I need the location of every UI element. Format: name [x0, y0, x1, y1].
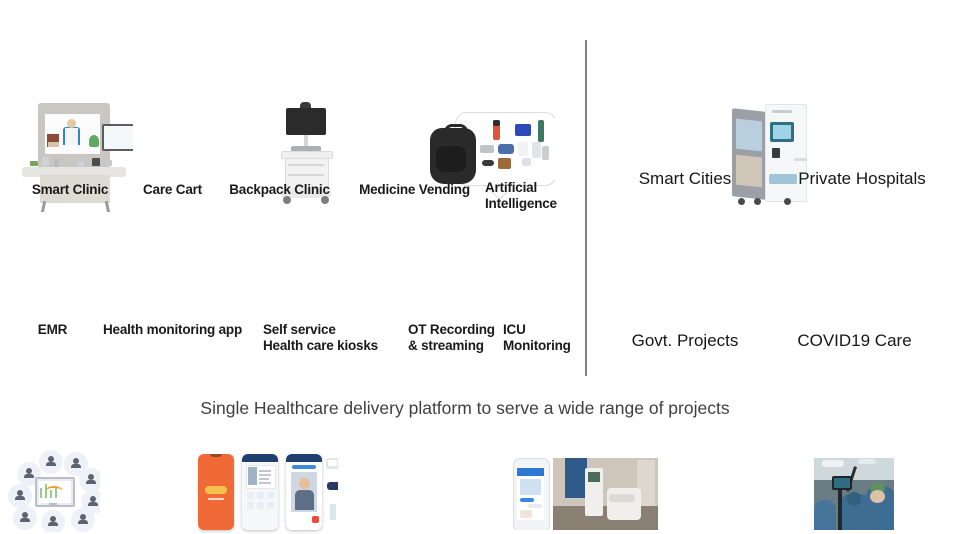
tile-smart-clinic[interactable]: Smart Clinic: [0, 40, 140, 200]
tile-icu-monitoring[interactable]: ICU Monitoring: [500, 222, 585, 357]
phone-records: [242, 454, 278, 530]
tile-label: Care Cart: [125, 182, 220, 198]
tile-ot-recording[interactable]: OT Recording & streaming: [405, 222, 500, 357]
tile-label-line1: OT Recording: [405, 322, 503, 338]
tile-label-line2: & streaming: [405, 338, 503, 354]
tile-self-service-kiosks[interactable]: Self service Health care kiosks: [255, 222, 407, 357]
tile-label-line2: Health care kiosks: [255, 338, 415, 354]
tile-health-monitoring-app[interactable]: Health monitoring app: [95, 222, 250, 352]
tile-emr[interactable]: EMR: [0, 222, 105, 352]
emr-image: [5, 450, 100, 532]
ot-recording-image: [814, 458, 894, 530]
tile-artificial-intelligence[interactable]: Artificial Intelligence: [480, 40, 585, 215]
tile-label: Backpack Clinic: [212, 182, 347, 198]
slide-canvas: Smart Clinic Care Cart: [0, 0, 960, 482]
tile-care-cart[interactable]: Care Cart: [133, 40, 211, 200]
tile-label-line2: Intelligence: [480, 196, 590, 212]
tile-covid19-care[interactable]: COVID-19 PROTECTION COVID19 Care: [757, 225, 952, 365]
tile-label: EMR: [0, 322, 105, 338]
tile-backpack-clinic[interactable]: Backpack Clinic: [212, 40, 347, 200]
footer-caption: Single Healthcare delivery platform to s…: [0, 398, 930, 419]
tile-label-line1: ICU: [500, 322, 588, 338]
tile-label-line1: Artificial: [480, 180, 590, 196]
tile-govt-projects[interactable]: Ministry of Health & Family Welfare Gove…: [600, 225, 770, 365]
health-monitoring-app-image: [198, 454, 338, 534]
tile-label: Health monitoring app: [95, 322, 250, 338]
self-service-kiosks-image: [513, 458, 658, 530]
tile-medicine-vending[interactable]: Medicine Vending: [347, 40, 482, 200]
tile-private-hospitals[interactable]: Private Hospitals: [772, 45, 952, 205]
tile-label: Private Hospitals: [772, 171, 952, 187]
tile-label: Govt. Projects: [600, 333, 770, 349]
tile-label: Smart Clinic: [0, 182, 140, 198]
tile-label: Smart Cities: [600, 171, 770, 187]
tile-label-line1: Self service: [255, 322, 415, 338]
phone-video-consult: [286, 454, 322, 530]
tile-smart-cities[interactable]: SMART CITY: [600, 45, 770, 205]
tile-label-line2: Monitoring: [500, 338, 588, 354]
tile-label: Medicine Vending: [347, 182, 482, 198]
phone-splash: [198, 454, 234, 530]
tile-label: COVID19 Care: [757, 333, 952, 349]
